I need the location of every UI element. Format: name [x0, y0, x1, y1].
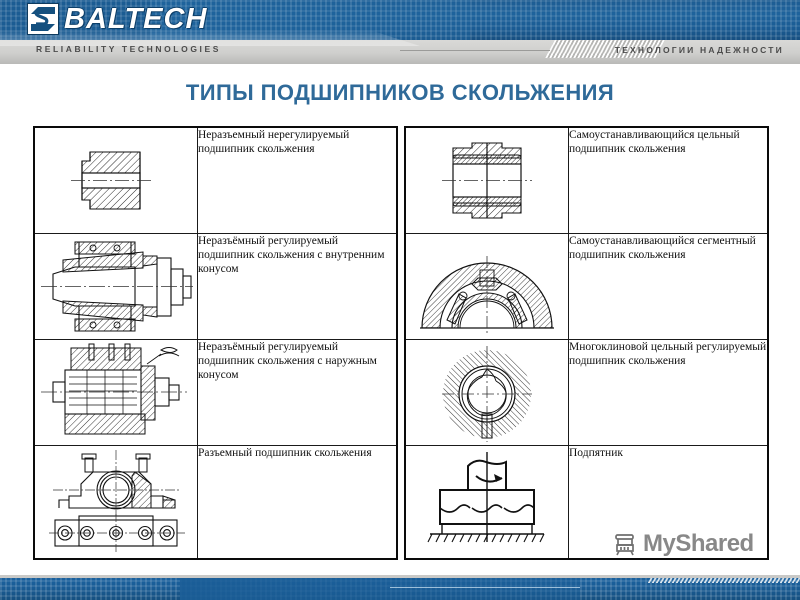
bearing-table-left: Неразъемный нерегулируемый подшипник ско…	[33, 126, 398, 560]
bearing-label: Разъемный подшипник скольжения	[198, 446, 398, 560]
tagline-left: RELIABILITY TECHNOLOGIES	[36, 44, 221, 54]
page-title: ТИПЫ ПОДШИПНИКОВ СКОЛЬЖЕНИЯ	[0, 80, 800, 106]
footer-hairline-decoration	[390, 587, 580, 588]
table-row: Неразъёмный регулируемый подшипник сколь…	[34, 234, 397, 340]
table-row: Неразъёмный регулируемый подшипник сколь…	[34, 340, 397, 446]
table-row: Подпятник	[405, 446, 768, 560]
split-bearing-housing-two-view-drawing	[34, 446, 198, 560]
brand-logo: BALTECH	[28, 4, 207, 34]
table-row: Самоустанавливающийся сегментный подшипн…	[405, 234, 768, 340]
adjustable-inner-cone-bearing-section-drawing	[34, 234, 198, 340]
bearing-label: Подпятник	[569, 446, 769, 560]
tagline-right: ТЕХНОЛОГИИ НАДЕЖНОСТИ	[615, 45, 784, 55]
self-aligning-solid-spherical-bearing-drawing	[405, 127, 569, 234]
brand-name: BALTECH	[64, 4, 207, 34]
baltech-b-logo-icon	[28, 4, 58, 34]
thrust-pad-bearing-drawing	[405, 446, 569, 560]
bearing-label: Неразъёмный регулируемый подшипник сколь…	[198, 340, 398, 446]
bearing-label: Неразъемный нерегулируемый подшипник ско…	[198, 127, 398, 234]
bearing-label: Неразъёмный регулируемый подшипник сколь…	[198, 234, 398, 340]
bearing-label: Многоклиновой цельный регулируемый подши…	[569, 340, 769, 446]
table-row: Многоклиновой цельный регулируемый подши…	[405, 340, 768, 446]
bearing-types-tables: Неразъемный нерегулируемый подшипник ско…	[0, 126, 800, 566]
self-aligning-tilting-pad-bearing-drawing	[405, 234, 569, 340]
table-row: Самоустанавливающийся цельный подшипник …	[405, 127, 768, 234]
app-footer	[0, 575, 800, 600]
table-row: Неразъемный нерегулируемый подшипник ско…	[34, 127, 397, 234]
header-hairline-decoration	[400, 50, 550, 51]
plain-non-separable-bushing-section-drawing	[34, 127, 198, 234]
multi-lobe-solid-adjustable-bearing-drawing	[405, 340, 569, 446]
table-row: Разъемный подшипник скольжения	[34, 446, 397, 560]
bearing-label: Самоустанавливающийся сегментный подшипн…	[569, 234, 769, 340]
footer-top-edge	[0, 575, 800, 578]
bearing-label: Самоустанавливающийся цельный подшипник …	[569, 127, 769, 234]
bearing-table-right: Самоустанавливающийся цельный подшипник …	[404, 126, 769, 560]
adjustable-outer-cone-bearing-section-drawing	[34, 340, 198, 446]
